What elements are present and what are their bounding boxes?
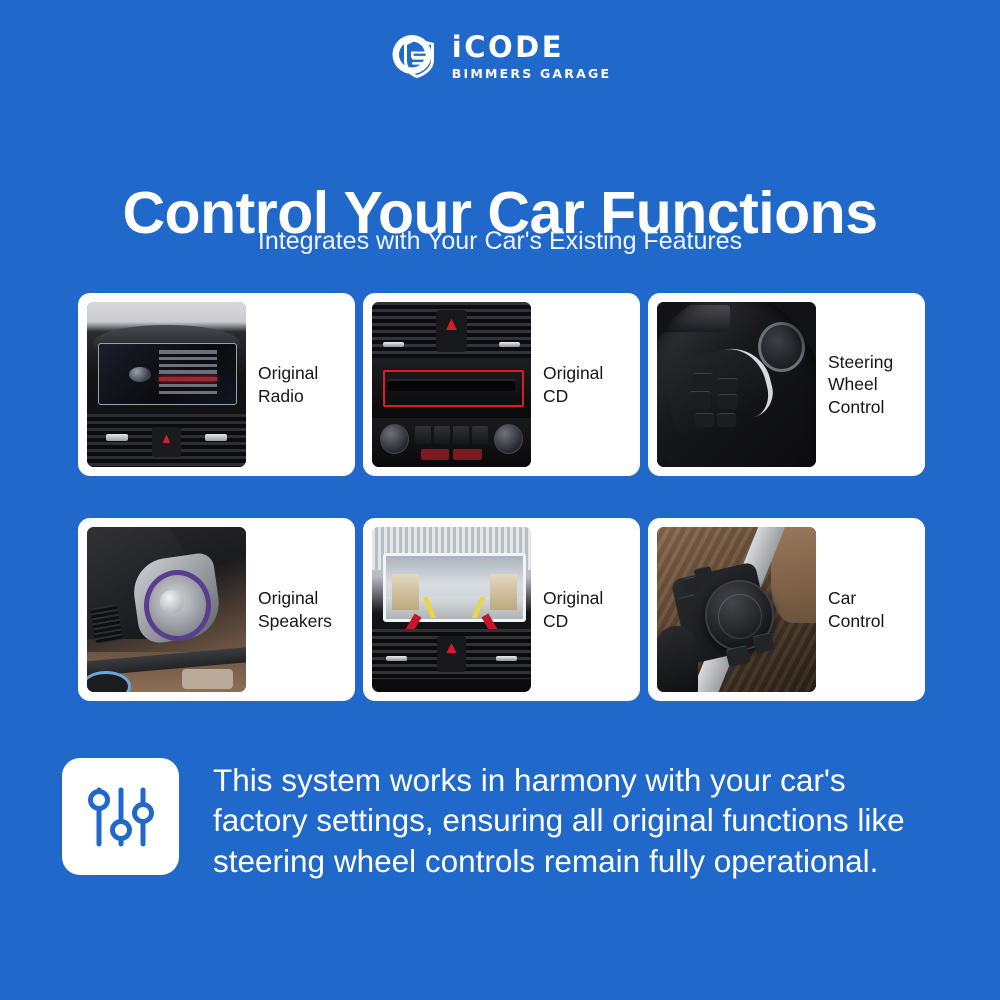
- feature-card-original-speakers[interactable]: Original Speakers: [78, 518, 355, 701]
- feature-card-label: Original CD: [531, 587, 630, 632]
- page-subtitle: Integrates with Your Car's Existing Feat…: [0, 228, 1000, 256]
- footer-description: This system works in harmony with your c…: [213, 758, 942, 881]
- feature-card-label: Car Control: [816, 587, 915, 632]
- feature-card-original-radio[interactable]: Original Radio: [78, 293, 355, 476]
- feature-card-label: Original Speakers: [246, 587, 345, 632]
- feature-card-original-cd-slot[interactable]: Original CD: [363, 293, 640, 476]
- original-speakers-thumbnail: [87, 527, 246, 692]
- original-radio-thumbnail: [87, 302, 246, 467]
- brand-tagline: BIMMERS GARAGE: [452, 68, 611, 81]
- cd-slot-highlight-box: [383, 370, 524, 407]
- logo-lockup[interactable]: iCODE BIMMERS GARAGE: [389, 32, 611, 82]
- feature-card-original-cd-camera[interactable]: Original CD: [363, 518, 640, 701]
- feature-card-grid: Original Radio Original CD: [78, 293, 923, 701]
- brand-header: iCODE BIMMERS GARAGE: [0, 32, 1000, 82]
- feature-card-car-control[interactable]: Car Control: [648, 518, 925, 701]
- feature-card-steering-wheel-control[interactable]: Steering Wheel Control: [648, 293, 925, 476]
- shield-g-logo-icon: [389, 32, 439, 82]
- car-control-thumbnail: [657, 527, 816, 692]
- feature-card-label: Original Radio: [246, 362, 345, 407]
- sliders-settings-icon: [62, 758, 179, 875]
- reverse-camera-thumbnail: [372, 527, 531, 692]
- steering-wheel-thumbnail: [657, 302, 816, 467]
- footer-callout: This system works in harmony with your c…: [62, 758, 942, 881]
- logo-wordmark: iCODE BIMMERS GARAGE: [452, 33, 611, 81]
- feature-card-label: Steering Wheel Control: [816, 351, 915, 418]
- feature-card-label: Original CD: [531, 362, 630, 407]
- brand-name: iCODE: [452, 33, 564, 62]
- original-cd-thumbnail: [372, 302, 531, 467]
